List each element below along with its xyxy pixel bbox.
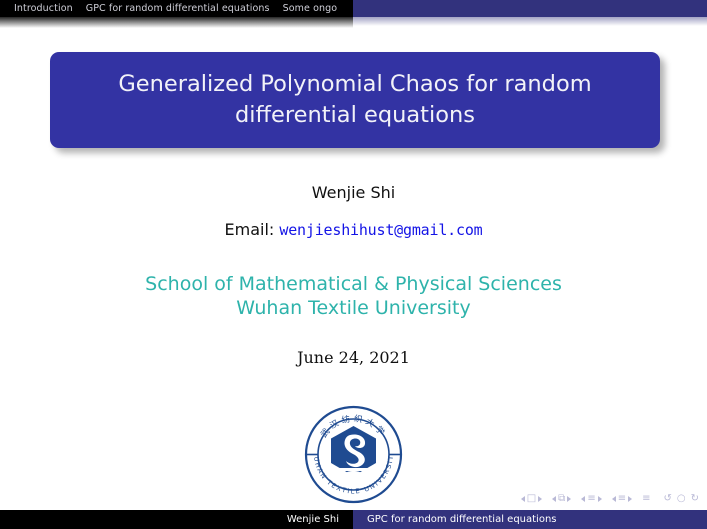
slide-icon[interactable]: □ [527, 494, 536, 504]
headline-shadow-fade-left [0, 17, 353, 28]
search-icon[interactable]: ○ [677, 494, 686, 504]
beamer-navigation-symbols[interactable]: □ ⧉ ≡ ≡ ≡ ↺ ○ ↻ [521, 491, 699, 507]
headline-navigation-bar: Introduction GPC for random differential… [0, 0, 707, 17]
section-navigation-group[interactable]: ≡ [612, 494, 632, 504]
forward-icon[interactable]: ↻ [691, 494, 699, 504]
author-email-line: Email: wenjieshihust@gmail.com [0, 220, 707, 239]
subsection-icon[interactable]: ≡ [587, 494, 595, 504]
headline-section-list: Introduction GPC for random differential… [0, 0, 353, 17]
document-icon[interactable]: ≡ [642, 494, 650, 504]
section-next-icon[interactable] [628, 496, 632, 502]
wuhan-textile-university-seal-icon: 武汉纺织大学 WUHAN TEXTILE UNIVERSITY [303, 404, 404, 505]
footline-author: Wenjie Shi [0, 510, 353, 529]
email-address-link[interactable]: wenjieshihust@gmail.com [279, 221, 482, 239]
subsection-navigation-group[interactable]: ≡ [581, 494, 601, 504]
frame-navigation-group[interactable]: ⧉ [552, 494, 571, 504]
headline-shadow-fade-right [353, 17, 707, 26]
footline-title: GPC for random differential equations [353, 510, 707, 529]
institute-line-2: Wuhan Textile University [0, 296, 707, 320]
headline-item-gpc[interactable]: GPC for random differential equations [86, 3, 270, 14]
subsection-prev-icon[interactable] [581, 496, 585, 502]
presentation-date: June 24, 2021 [0, 348, 707, 367]
footline-bar: Wenjie Shi GPC for random differential e… [0, 510, 707, 529]
section-prev-icon[interactable] [612, 496, 616, 502]
institute-block: School of Mathematical & Physical Scienc… [0, 272, 707, 320]
slide-next-icon[interactable] [538, 496, 542, 502]
author-name: Wenjie Shi [0, 183, 707, 202]
headline-accent-filler [353, 0, 707, 17]
frame-next-icon[interactable] [567, 496, 571, 502]
page-title: Generalized Polynomial Chaos for random … [78, 69, 632, 131]
headline-item-some-ongoing[interactable]: Some ongo [283, 3, 338, 14]
university-logo: 武汉纺织大学 WUHAN TEXTILE UNIVERSITY [303, 404, 404, 505]
headline-item-introduction[interactable]: Introduction [14, 3, 73, 14]
frame-prev-icon[interactable] [552, 496, 556, 502]
slide-prev-icon[interactable] [521, 496, 525, 502]
institute-line-1: School of Mathematical & Physical Scienc… [0, 272, 707, 296]
title-block: Generalized Polynomial Chaos for random … [50, 52, 660, 148]
back-icon[interactable]: ↺ [663, 494, 671, 504]
slide-navigation-group[interactable]: □ [521, 494, 542, 504]
title-box: Generalized Polynomial Chaos for random … [50, 52, 660, 148]
email-label: Email: [225, 220, 275, 239]
subsection-next-icon[interactable] [598, 496, 602, 502]
section-icon[interactable]: ≡ [618, 494, 626, 504]
frame-icon[interactable]: ⧉ [558, 494, 565, 504]
